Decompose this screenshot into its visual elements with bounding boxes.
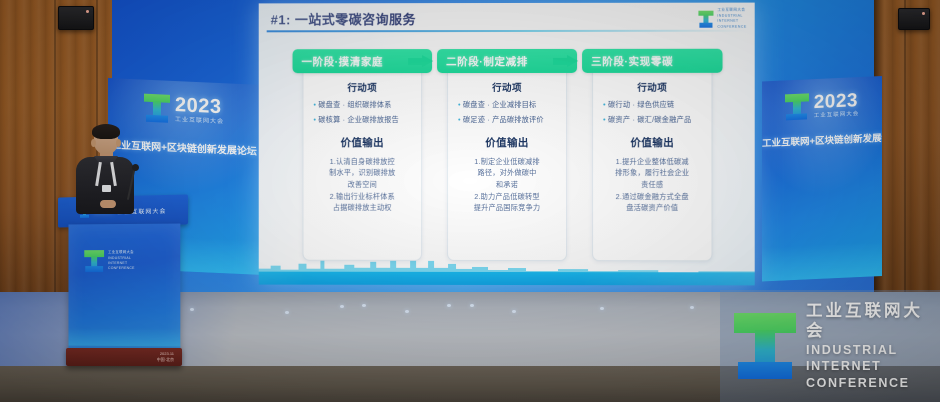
- conference-ibeam-logo-icon: [785, 94, 809, 121]
- speaker-person: [74, 126, 136, 214]
- arrow-right-icon: [408, 55, 434, 68]
- arrow-right-icon: [553, 55, 579, 68]
- conference-ibeam-logo-icon: [84, 250, 104, 272]
- phase-1-value-1: 制水平，识别碳排放: [311, 167, 413, 179]
- slide-title: #1: 一站式零碳咨询服务: [271, 9, 416, 28]
- phase-2-value-1: 路径，对外做碳中: [456, 167, 558, 179]
- banner-right-skyline: [762, 242, 882, 281]
- wood-wall-right: [874, 0, 940, 300]
- watermark-line-internet: INTERNET: [806, 358, 940, 375]
- phase-3-header: 三阶段·实现零碳: [582, 49, 722, 73]
- slide-bottom-band: [259, 272, 755, 286]
- conference-ibeam-logo-icon: [144, 94, 170, 123]
- phase-1-value-2: 改善空间: [311, 179, 413, 191]
- presentation-slide: #1: 一站式零碳咨询服务 工业互联网大会 INDUSTRIAL INTERNE…: [259, 3, 755, 286]
- phase-3-value-0: 1.提升企业整体低碳减: [601, 156, 703, 168]
- podium: 2023 工业互联网大会 工业互联网大会 INDUSTRIAL INTERNET…: [64, 196, 182, 368]
- phase-2-value-3: 2.助力产品低碳转型: [456, 191, 558, 203]
- ceiling-speaker-icon: [58, 6, 94, 30]
- phase-3-value-1: 排形象，履行社会企业: [601, 167, 703, 179]
- phase-3-header-label: 三阶段·实现零碳: [591, 53, 673, 68]
- podium-date-line-1: 中国·北京: [157, 357, 174, 363]
- phase-2-action-1: 碳足迹 · 产品碳排放评价: [458, 115, 558, 126]
- phase-2-value-2: 和承诺: [456, 179, 558, 191]
- phase-3-action-0: 碳行动 · 绿色供应链: [603, 100, 703, 111]
- phase-3-value-3: 2.通过碳金融方式全盘: [601, 191, 703, 203]
- speaker-hair: [92, 124, 120, 139]
- podium-front-panel: 工业互联网大会 INDUSTRIAL INTERNET CONFERENCE: [68, 224, 180, 353]
- slide-corner-logo: 工业互联网大会 INDUSTRIAL INTERNET CONFERENCE: [698, 8, 746, 30]
- phase-1-header-label: 一阶段·摸清家庭: [301, 54, 382, 69]
- side-banner-right: 2023 工业互联网大会 工业互联网+区块链创新发展论坛: [762, 76, 882, 281]
- phase-1-value-0: 1.认清自身碳排放控: [311, 156, 413, 168]
- podium-logo-line-3: CONFERENCE: [108, 266, 135, 272]
- conference-stage-photo: 2023 工业互联网大会 工业互联网+区块链创新发展论坛 2023 工业互联网大…: [0, 0, 940, 402]
- broadcast-watermark: 工业互联网大会 INDUSTRIAL INTERNET CONFERENCE: [720, 290, 940, 402]
- phase-2-value-4: 提升产品国际竞争力: [456, 202, 558, 214]
- phase-1-action-heading: 行动项: [311, 80, 413, 94]
- phase-2-body: 行动项 碳盘查 · 企业减排目标 碳足迹 · 产品碳排放评价 价值输出 1.制定…: [447, 64, 567, 261]
- phase-3-value-4: 盘活碳资产价值: [601, 202, 703, 214]
- speaker-ear-right: [116, 139, 121, 147]
- speaker-badge: [102, 185, 111, 192]
- phase-column-3: 三阶段·实现零碳 行动项 碳行动 · 绿色供应链 碳资产 · 碳汇/碳金融产品 …: [582, 49, 722, 262]
- podium-base: 2023.11 中国·北京: [66, 348, 182, 366]
- banner-left-year: 2023: [175, 95, 222, 117]
- phase-2-value-heading: 价值输出: [456, 135, 558, 150]
- phase-1-value-4: 占据碳排放主动权: [311, 202, 413, 214]
- microphone-icon: [132, 164, 139, 171]
- phase-2-header-label: 二阶段·制定减排: [446, 53, 528, 68]
- phase-3-body: 行动项 碳行动 · 绿色供应链 碳资产 · 碳汇/碳金融产品 价值输出 1.提升…: [592, 64, 712, 261]
- watermark-line-conference: CONFERENCE: [806, 375, 940, 392]
- ceiling-speaker-icon: [898, 8, 930, 30]
- speaker-ear-left: [91, 139, 96, 147]
- phase-1-value-3: 2.输出行业标杆体系: [311, 190, 413, 202]
- phase-1-body: 行动项 碳盘查 · 组织碳排体系 碳核算 · 企业碳排放报告 价值输出 1.认清…: [302, 64, 422, 261]
- watermark-title-cn: 工业互联网大会: [806, 301, 940, 342]
- speaker-hand: [100, 200, 116, 208]
- banner-right-year: 2023: [814, 91, 858, 112]
- phase-3-value-heading: 价值输出: [601, 135, 703, 150]
- phase-2-value-0: 1.制定企业低碳减排: [456, 156, 558, 168]
- phase-2-action-0: 碳盘查 · 企业减排目标: [458, 100, 558, 111]
- phase-3-value-2: 责任感: [601, 179, 703, 191]
- phase-2-action-heading: 行动项: [456, 80, 558, 94]
- phase-3-action-heading: 行动项: [601, 80, 703, 94]
- podium-skyline: [68, 328, 180, 347]
- projection-screen: #1: 一站式零碳咨询服务 工业互联网大会 INDUSTRIAL INTERNE…: [259, 3, 755, 286]
- podium-logo: 工业互联网大会 INDUSTRIAL INTERNET CONFERENCE: [84, 250, 134, 272]
- conference-ibeam-logo-icon: [734, 313, 796, 379]
- phase-3-action-1: 碳资产 · 碳汇/碳金融产品: [603, 115, 703, 126]
- phase-1-action-0: 碳盘查 · 组织碳排体系: [313, 100, 413, 111]
- slide-logo-line-3: CONFERENCE: [717, 24, 746, 30]
- phase-column-2: 二阶段·制定减排 行动项 碳盘查 · 企业减排目标 碳足迹 · 产品碳排放评价 …: [437, 49, 577, 261]
- slide-title-divider: [267, 30, 747, 33]
- phase-1-value-heading: 价值输出: [311, 135, 413, 150]
- phase-column-1: 一阶段·摸清家庭 行动项 碳盘查 · 组织碳排体系 碳核算 · 企业碳排放报告 …: [293, 49, 433, 261]
- phase-1-action-1: 碳核算 · 企业碳排放报告: [313, 115, 413, 126]
- watermark-line-industrial: INDUSTRIAL: [806, 342, 940, 359]
- conference-ibeam-logo-icon: [698, 10, 713, 27]
